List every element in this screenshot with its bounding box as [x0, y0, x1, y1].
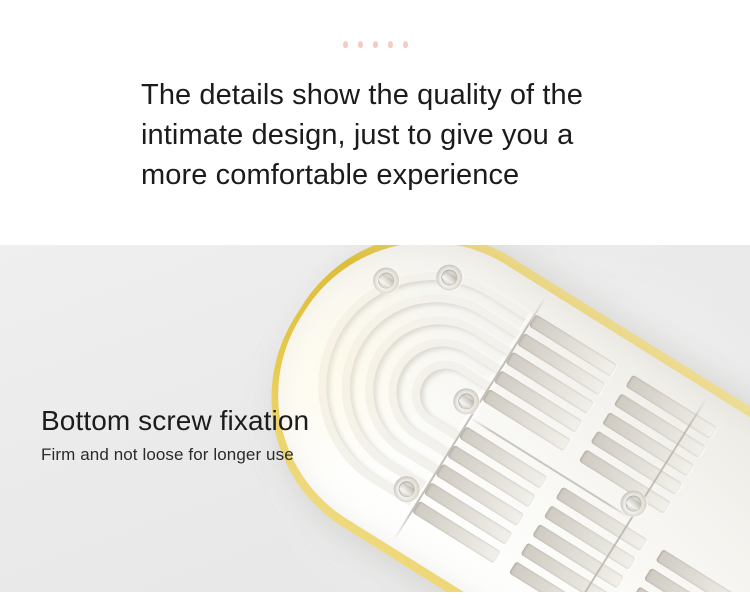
product-photo-section: Bottom screw fixation Firm and not loose… [0, 245, 750, 592]
feature-title: Bottom screw fixation [41, 404, 309, 438]
dot-divider [0, 38, 750, 50]
product-detail-page: The details show the quality of the inti… [0, 0, 750, 614]
decor-dot-icon [373, 41, 378, 48]
feature-subtitle: Firm and not loose for longer use [41, 444, 294, 466]
decor-dot-icon [343, 41, 348, 48]
intro-heading: The details show the quality of the inti… [141, 75, 611, 195]
decor-dot-icon [358, 41, 363, 48]
intro-section: The details show the quality of the inti… [0, 0, 750, 245]
bottom-white-band [0, 592, 750, 614]
decor-dot-icon [388, 41, 393, 48]
decor-dot-icon [403, 41, 408, 48]
photo-backdrop: Bottom screw fixation Firm and not loose… [0, 245, 750, 592]
